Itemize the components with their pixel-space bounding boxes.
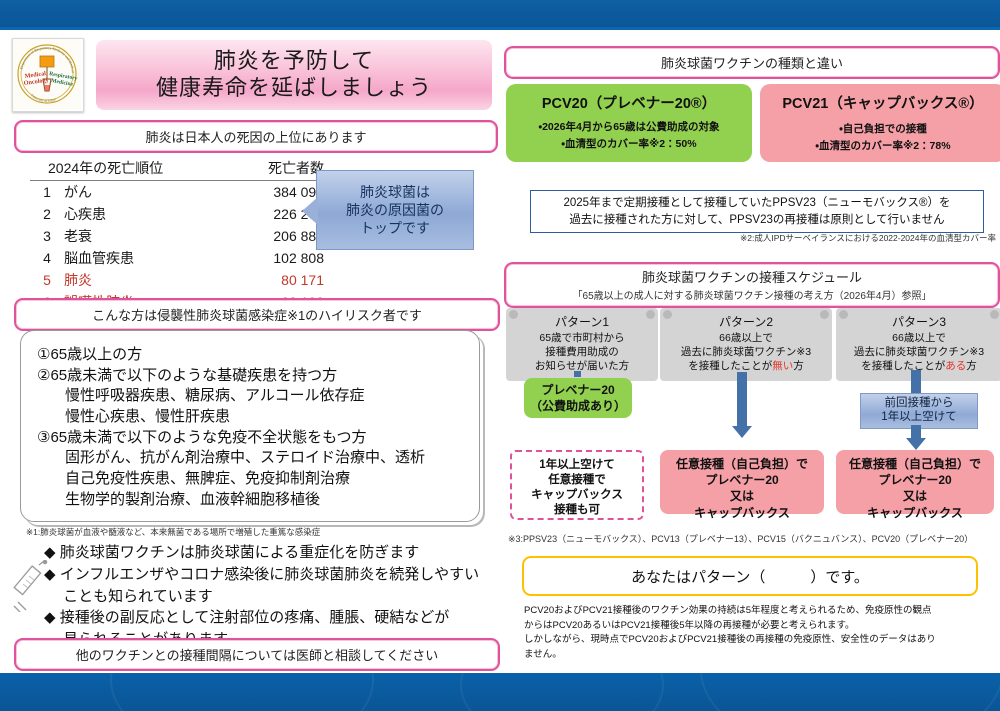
- key-points-list: ◆ 肺炎球菌ワクチンは肺炎球菌による重症化を防ぎます◆ インフルエンザやコロナ感…: [44, 542, 484, 651]
- pattern-1-opt-1: 1年以上空けて: [512, 458, 642, 473]
- footer-line: しかしながら、現時点でPCV20およびPCV21接種後の再接種の免疫原性、安全性…: [524, 633, 986, 648]
- pattern-card-2: パターン2 66歳以上で 過去に肺炎球菌ワクチン※3 を接種したことが無い方: [660, 308, 832, 381]
- pattern-2-desc-mid: 過去に肺炎球菌ワクチン※3: [664, 345, 828, 359]
- cell-deaths: 206 882: [228, 225, 330, 247]
- pattern-card-1: パターン1 65歳で市町村から 接種費用助成の お知らせが届いた方: [506, 308, 658, 381]
- pattern-1-opt-4: 接種も可: [512, 503, 642, 518]
- key-point: ◆ インフルエンザやコロナ感染後に肺炎球菌肺炎を続発しやすい: [44, 564, 484, 586]
- page-title: 肺炎を予防して 健康寿命を延ばしましょう: [96, 40, 492, 110]
- pattern-3-gap-line2: 1年以上空けて: [861, 410, 977, 424]
- key-point: ◆ 接種後の副反応として注射部位の疼痛、腫脹、硬結などが: [44, 607, 484, 629]
- your-pattern-box[interactable]: あなたはパターン（ ）です。: [522, 556, 978, 596]
- scroll-curl-icon: [820, 310, 829, 319]
- pattern-3-action-2: プレベナー20: [836, 472, 994, 488]
- pattern-1-opt-3: キャップバックス: [512, 488, 642, 503]
- footer-line: ません。: [524, 648, 986, 663]
- table-header-row: 2024年の死亡順位 死亡者数: [30, 158, 330, 181]
- ribbon-pneumonia-death-rank: 肺炎は日本人の死因の上位にあります: [14, 120, 498, 153]
- pattern-3-desc-mid: 過去に肺炎球菌ワクチン※3: [840, 345, 998, 359]
- pattern-2-action-1: 任意接種（自己負担）で: [660, 456, 824, 472]
- vaccine-detail-pcv20-2: ・血清型のカバー率※2：50%: [512, 136, 746, 153]
- pattern-3-action: 任意接種（自己負担）で プレベナー20 又は キャップバックス: [836, 450, 994, 514]
- table-row: 1がん384 099: [30, 181, 330, 204]
- page-title-line2: 健康寿命を延ばしましょう: [156, 75, 432, 102]
- callout-line2: 肺炎の原因菌の: [346, 201, 444, 219]
- footnote-1: ※1:肺炎球菌が血液や髄液など、本来無菌である場所で増殖した重篤な感染症: [26, 526, 320, 538]
- pattern-3-red-word: ある: [945, 360, 966, 372]
- cell-rank: 2: [30, 203, 64, 225]
- pattern-2-action: 任意接種（自己負担）で プレベナー20 又は キャップバックス: [660, 450, 824, 514]
- table-row: 2心疾患226 277: [30, 203, 330, 225]
- cell-rank: 3: [30, 225, 64, 247]
- scroll-curl-icon: [663, 310, 672, 319]
- vaccine-detail-pcv21-1: ・自己負担での接種: [766, 121, 1000, 138]
- pattern-1-optional-box: 1年以上空けて 任意接種で キャップバックス 接種も可: [510, 450, 644, 520]
- pattern-1-result-sub: （公費助成あり）: [524, 398, 632, 414]
- vaccine-card-pcv21: PCV21（キャップバックス®） ・自己負担での接種 ・血清型のカバー率※2：7…: [760, 84, 1000, 162]
- slide-root: Medical Oncology Respiratory Medicine De…: [0, 0, 1000, 711]
- pattern-2-desc-pre: 66歳以上で: [664, 331, 828, 345]
- pattern-1-desc-1: 65歳で市町村から: [510, 331, 654, 345]
- high-risk-list-box: ①65歳以上の方②65歳未満で以下のような基礎疾患を持つ方慢性呼吸器疾患、糖尿病…: [20, 330, 480, 522]
- pattern-2-red-word: 無い: [772, 360, 793, 372]
- cell-rank: 4: [30, 247, 64, 269]
- col-header-deaths: 死亡者数: [228, 158, 330, 181]
- pattern-3-action-4: キャップバックス: [836, 505, 994, 521]
- scroll-curl-icon: [646, 310, 655, 319]
- pattern-1-title: パターン1: [510, 313, 654, 330]
- risk-item: 慢性呼吸器疾患、糖尿病、アルコール依存症: [37, 386, 471, 407]
- vaccine-card-pcv20: PCV20（プレベナー20®） ・2026年4月から65歳は公費助成の対象 ・血…: [506, 84, 752, 162]
- risk-item: 生物学的製剤治療、血液幹細胞移植後: [37, 490, 471, 511]
- footnote-3: ※3:PPSV23（ニューモバックス）、PCV13（プレベナー13）、PCV15…: [508, 532, 973, 545]
- risk-item: 慢性心疾患、慢性肝疾患: [37, 407, 471, 428]
- risk-item: ③65歳未満で以下のような免疫不全状態をもつ方: [37, 428, 471, 449]
- vaccine-name-pcv20: PCV20（プレベナー20®）: [512, 92, 746, 113]
- cell-rank: 5: [30, 269, 64, 291]
- schedule-header-title: 肺炎球菌ワクチンの接種スケジュール: [512, 267, 992, 286]
- wave-decoration: [110, 673, 374, 711]
- pattern-1-desc-3: お知らせが届いた方: [510, 359, 654, 373]
- cell-cause: がん: [64, 181, 228, 204]
- footer-line: PCV20およびPCV21接種後のワクチン効果の持続は5年程度と考えられるため、…: [524, 604, 986, 619]
- ribbon-high-risk-header: こんな方は侵襲性肺炎球菌感染症※1のハイリスク者です: [14, 298, 500, 331]
- pattern-3-desc-pre: 66歳以上で: [840, 331, 998, 345]
- ppsv23-note-line1: 2025年まで定期接種として接種していたPPSV23（ニューモバックス®）を: [537, 195, 977, 212]
- pattern-2-post-b: 方: [793, 360, 804, 372]
- pattern-3-post-a: を接種したことが: [861, 360, 945, 372]
- col-header-rank: 2024年の死亡順位: [30, 158, 228, 181]
- cell-cause: 心疾患: [64, 203, 228, 225]
- key-point: ことも知られています: [44, 586, 484, 608]
- footnote-2: ※2:成人IPDサーベイランスにおける2022-2024年の血清型カバー率: [740, 232, 996, 244]
- scroll-curl-icon: [839, 310, 848, 319]
- wave-decoration: [460, 673, 664, 711]
- vaccine-detail-pcv20-1: ・2026年4月から65歳は公費助成の対象: [512, 119, 746, 136]
- pattern-1-result-title: プレベナー20: [524, 382, 632, 398]
- schedule-header-sub: 「65歳以上の成人に対する肺炎球菌ワクチン接種の考え方（2026年4月）参照」: [512, 287, 992, 302]
- pattern-2-action-2: プレベナー20: [660, 472, 824, 488]
- scroll-curl-icon: [509, 310, 518, 319]
- cell-cause: 老衰: [64, 225, 228, 247]
- risk-item: ②65歳未満で以下のような基礎疾患を持つ方: [37, 366, 471, 387]
- table-row: 3老衰206 882: [30, 225, 330, 247]
- pattern-1-result: プレベナー20 （公費助成あり）: [524, 378, 632, 418]
- vaccine-name-pcv21: PCV21（キャップバックス®）: [766, 92, 1000, 113]
- page-title-line1: 肺炎を予防して: [214, 48, 374, 75]
- footer-line: からはPCV20あるいはPCV21接種後5年以降の再接種が必要と考えられます。: [524, 619, 986, 634]
- pattern-2-action-4: キャップバックス: [660, 505, 824, 521]
- ribbon-vaccine-interval: 他のワクチンとの接種間隔については医師と相談してください: [14, 638, 500, 671]
- pattern-2-action-3: 又は: [660, 488, 824, 504]
- callout-pneumococcus-top-cause: 肺炎球菌は 肺炎の原因菌の トップです: [316, 170, 474, 250]
- institution-logo: Medical Oncology Respiratory Medicine De…: [12, 38, 84, 112]
- ppsv23-note-line2: 過去に接種された方に対して、PPSV23の再接種は原則として行いません: [537, 212, 977, 229]
- table-row: 5肺炎80 171: [30, 269, 330, 291]
- pattern-2-title: パターン2: [664, 313, 828, 330]
- ppsv23-revaccination-note: 2025年まで定期接種として接種していたPPSV23（ニューモバックス®）を 過…: [530, 190, 984, 233]
- ribbon-schedule-header: 肺炎球菌ワクチンの接種スケジュール 「65歳以上の成人に対する肺炎球菌ワクチン接…: [504, 262, 1000, 308]
- callout-line1: 肺炎球菌は: [346, 183, 444, 201]
- callout-arrow: [302, 197, 318, 225]
- risk-item: ①65歳以上の方: [37, 345, 471, 366]
- pattern-1-opt-2: 任意接種で: [512, 473, 642, 488]
- pattern-1-desc-2: 接種費用助成の: [510, 345, 654, 359]
- footer-disclaimer: PCV20およびPCV21接種後のワクチン効果の持続は5年程度と考えられるため、…: [524, 604, 986, 663]
- key-point: ◆ 肺炎球菌ワクチンは肺炎球菌による重症化を防ぎます: [44, 542, 484, 564]
- pattern-3-gap-line1: 前回接種から: [861, 396, 977, 410]
- pattern-3-interval-note: 前回接種から 1年以上空けて: [860, 393, 978, 429]
- cell-deaths: 80 171: [228, 269, 330, 291]
- connector-pattern-1: [574, 371, 581, 377]
- bottom-decorative-band: [0, 673, 1000, 711]
- risk-item: 固形がん、抗がん剤治療中、ステロイド治療中、透析: [37, 448, 471, 469]
- callout-line3: トップです: [346, 219, 444, 237]
- cell-cause: 肺炎: [64, 269, 228, 291]
- mortality-table-wrapper: 2024年の死亡順位 死亡者数 1がん384 0992心疾患226 2773老衰…: [30, 158, 330, 316]
- risk-item: 自己免疫性疾患、無脾症、免疫抑制剤治療: [37, 469, 471, 490]
- mortality-table: 2024年の死亡順位 死亡者数 1がん384 0992心疾患226 2773老衰…: [30, 158, 330, 316]
- table-row: 4脳血管疾患102 808: [30, 247, 330, 269]
- scroll-curl-icon: [990, 310, 999, 319]
- cell-cause: 脳血管疾患: [64, 247, 228, 269]
- pattern-3-action-3: 又は: [836, 488, 994, 504]
- wave-decoration: [700, 673, 1000, 711]
- cell-rank: 1: [30, 181, 64, 204]
- vaccine-detail-pcv21-2: ・血清型のカバー率※2：78%: [766, 138, 1000, 155]
- pattern-3-title: パターン3: [840, 313, 998, 330]
- pattern-2-post-a: を接種したことが: [688, 360, 772, 372]
- top-decorative-band: [0, 0, 1000, 30]
- ribbon-vaccine-types: 肺炎球菌ワクチンの種類と違い: [504, 46, 1000, 79]
- cell-deaths: 102 808: [228, 247, 330, 269]
- pattern-3-action-1: 任意接種（自己負担）で: [836, 456, 994, 472]
- pattern-3-post-b: 方: [966, 360, 977, 372]
